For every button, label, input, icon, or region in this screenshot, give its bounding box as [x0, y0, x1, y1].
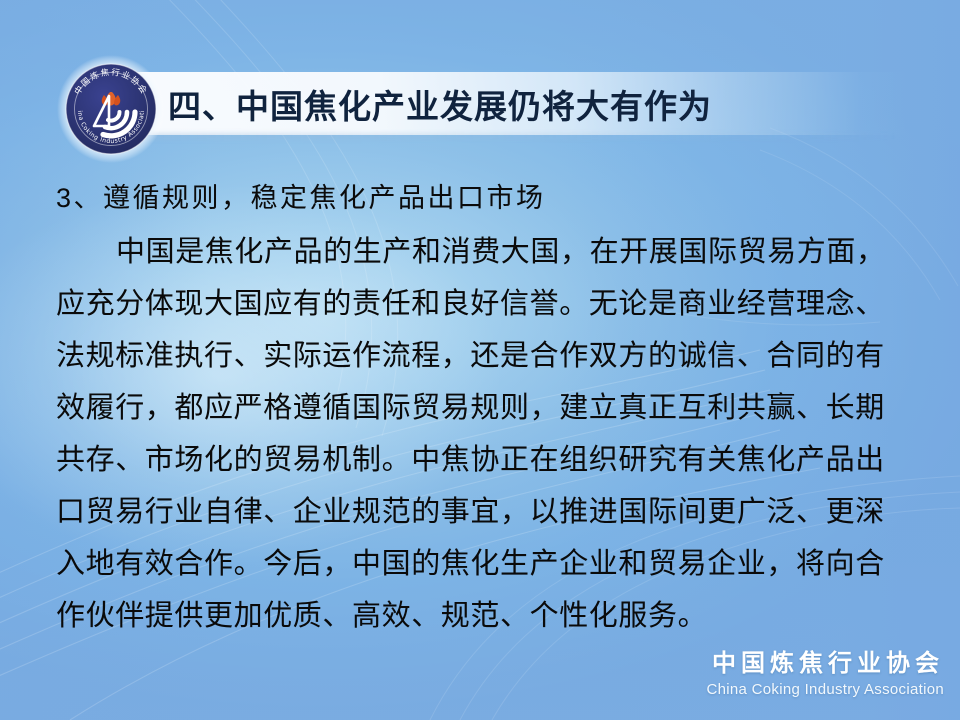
body-line: 中国是焦化产品的生产和消费大国，在开展国际贸易方面， [56, 226, 934, 278]
association-logo-icon: 中国炼焦行业协会 China Coking Industry Associati… [56, 54, 166, 164]
presentation-slide: 四、中国焦化产业发展仍将大有作为 [0, 0, 960, 720]
body-line: 口贸易行业自律、企业规范的事宜，以推进国际间更广泛、更深 [56, 486, 934, 538]
footer-name-en: China Coking Industry Association [706, 681, 944, 698]
body-line: 法规标准执行、实际运作流程，还是合作双方的诚信、合同的有 [56, 330, 934, 382]
body-line: 效履行，都应严格遵循国际贸易规则，建立真正互利共赢、长期 [56, 382, 934, 434]
section-subtitle: 3、遵循规则，稳定焦化产品出口市场 [56, 176, 546, 215]
body-line: 应充分体现大国应有的责任和良好信誉。无论是商业经营理念、 [56, 278, 934, 330]
body-line: 共存、市场化的贸易机制。中焦协正在组织研究有关焦化产品出 [56, 434, 934, 486]
page-title: 四、中国焦化产业发展仍将大有作为 [168, 74, 712, 134]
footer-branding: 中国炼焦行业协会 China Coking Industry Associati… [706, 650, 944, 698]
footer-name-cn: 中国炼焦行业协会 [706, 650, 944, 678]
body-text-block: 中国是焦化产品的生产和消费大国，在开展国际贸易方面， 应充分体现大国应有的责任和… [56, 226, 934, 642]
body-line: 作伙伴提供更加优质、高效、规范、个性化服务。 [56, 590, 934, 642]
association-logo: 中国炼焦行业协会 China Coking Industry Associati… [56, 54, 166, 164]
body-line: 入地有效合作。今后，中国的焦化生产企业和贸易企业，将向合 [56, 538, 934, 590]
